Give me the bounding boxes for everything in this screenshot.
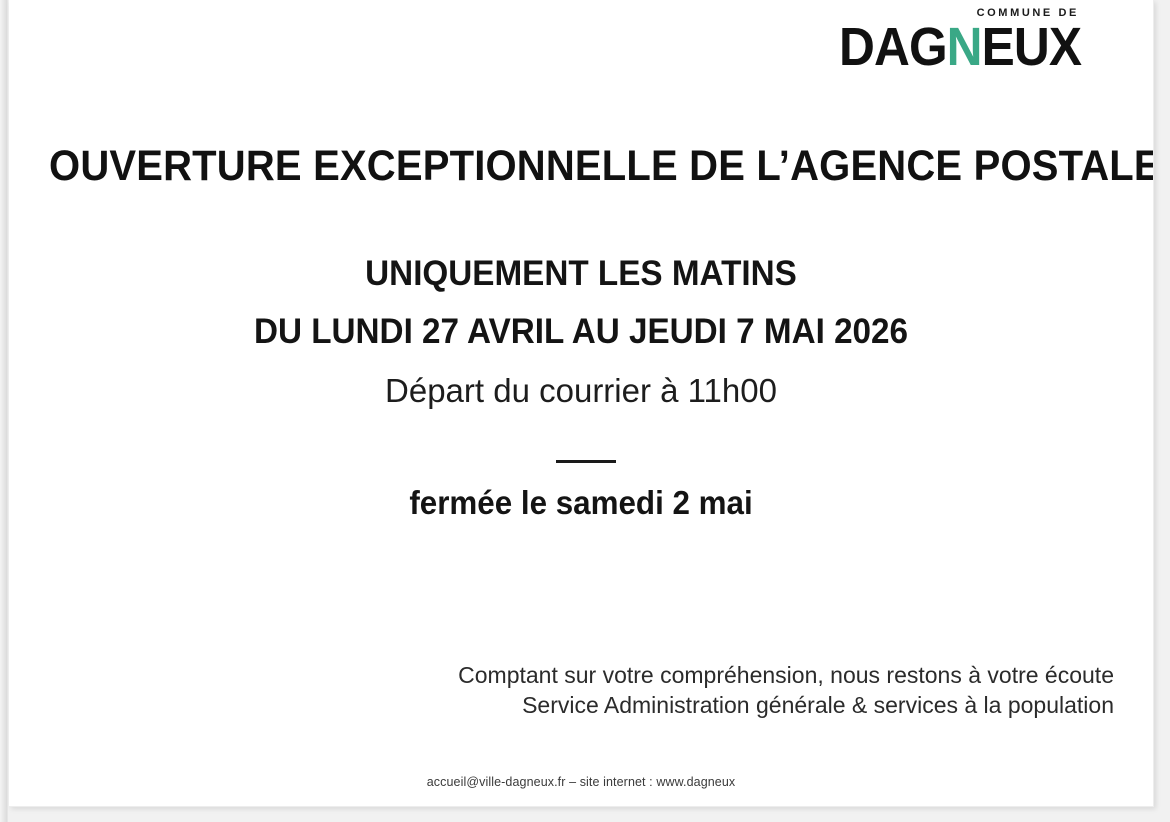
logo-wordmark: DAGNEUX bbox=[839, 20, 1081, 74]
notice-date-range: DU LUNDI 27 AVRIL AU JEUDI 7 MAI 2026 bbox=[38, 312, 1125, 352]
closing-line-2: Service Administration générale & servic… bbox=[458, 690, 1114, 720]
section-divider-rule bbox=[556, 460, 616, 463]
logo-wordmark-accent-n: N bbox=[947, 17, 982, 77]
notice-page: COMMUNE DE DAGNEUX OUVERTURE EXCEPTIONNE… bbox=[9, 0, 1154, 807]
dagneux-logo: COMMUNE DE DAGNEUX bbox=[818, 8, 1081, 74]
logo-wordmark-part-dag: DAG bbox=[839, 17, 947, 77]
scan-canvas: COMMUNE DE DAGNEUX OUVERTURE EXCEPTIONNE… bbox=[0, 0, 1170, 822]
notice-title: OUVERTURE EXCEPTIONNELLE DE L’AGENCE POS… bbox=[49, 142, 1113, 191]
page-left-gutter bbox=[0, 0, 9, 822]
logo-wordmark-part-eux: EUX bbox=[982, 17, 1081, 77]
closing-block: Comptant sur votre compréhension, nous r… bbox=[458, 660, 1114, 721]
closing-line-1: Comptant sur votre compréhension, nous r… bbox=[458, 660, 1114, 690]
footer-contact: accueil@ville-dagneux.fr – site internet… bbox=[9, 775, 1153, 789]
notice-mornings-only: UNIQUEMENT LES MATINS bbox=[38, 254, 1125, 294]
notice-mail-departure: Départ du courrier à 11h00 bbox=[9, 372, 1153, 410]
notice-closed-saturday: fermée le samedi 2 mai bbox=[38, 484, 1125, 522]
